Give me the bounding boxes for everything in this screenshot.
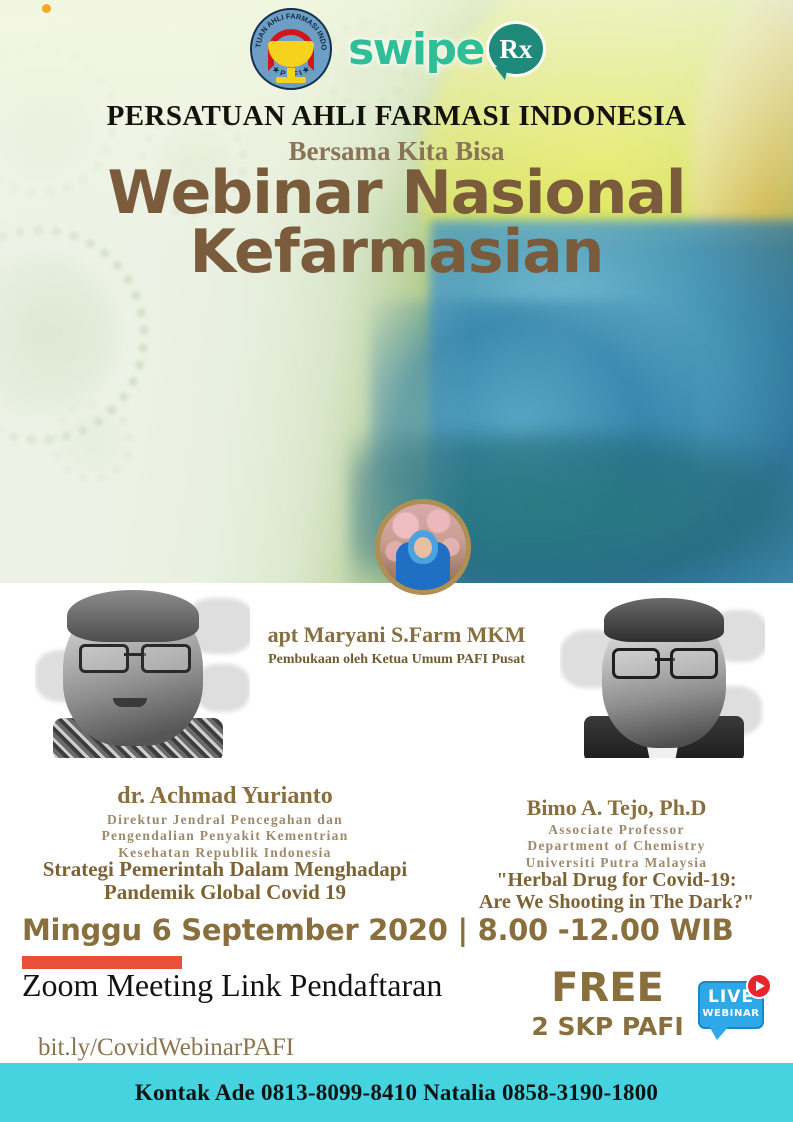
affiliation-line: Associate Professor xyxy=(440,822,793,838)
event-datetime: Minggu 6 September 2020 | 8.00 -12.00 WI… xyxy=(22,913,733,947)
right-speaker-name: Bimo A. Tejo, Ph.D xyxy=(440,795,793,821)
main-title-line2: Kefarmasian xyxy=(0,223,793,282)
webinar-label: WEBINAR xyxy=(698,1008,764,1019)
topic-line: Pandemik Global Covid 19 xyxy=(0,881,450,904)
topic-line: Strategi Pemerintah Dalam Menghadapi xyxy=(0,858,450,881)
right-speaker-affiliation: Associate Professor Department of Chemis… xyxy=(440,822,793,871)
left-speaker-affiliation: Direktur Jendral Pencegahan dan Pengenda… xyxy=(0,812,450,861)
registration-label: Zoom Meeting Link Pendaftaran xyxy=(22,967,442,1004)
affiliation-line: Pengendalian Penyakit Kementrian xyxy=(0,828,450,844)
left-speaker-name: dr. Achmad Yurianto xyxy=(0,783,450,810)
rx-label: Rx xyxy=(499,36,532,63)
page-title: Webinar Nasional Kefarmasian xyxy=(0,164,793,283)
left-speaker-hair xyxy=(67,590,199,642)
left-speaker-topic: Strategi Pemerintah Dalam Menghadapi Pan… xyxy=(0,858,450,904)
eyeglasses-icon xyxy=(612,648,718,674)
eyeglasses-icon xyxy=(79,644,191,668)
webinar-poster: PERSATUAN AHLI FARMASI INDONESIA ★ P A F… xyxy=(0,0,793,1122)
pafi-logo-icon: PERSATUAN AHLI FARMASI INDONESIA ★ P A F… xyxy=(250,8,332,90)
swipe-wordmark: swipe xyxy=(348,24,484,75)
affiliation-line: Department of Chemistry xyxy=(440,838,793,854)
play-button-icon xyxy=(746,973,772,999)
right-speaker-hair xyxy=(604,598,724,642)
organization-name: PERSATUAN AHLI FARMASI INDONESIA xyxy=(0,100,793,133)
contact-bar: Kontak Ade 0813-8099-8410 Natalia 0858-3… xyxy=(0,1063,793,1122)
avatar-right-speaker xyxy=(560,590,765,758)
right-speaker-topic: "Herbal Drug for Covid-19: Are We Shooti… xyxy=(440,869,793,913)
price-block: FREE 2 SKP PAFI xyxy=(520,968,695,1041)
swipe-dot-icon xyxy=(42,4,51,13)
rx-speech-bubble-icon: Rx xyxy=(489,24,543,74)
logo-row: PERSATUAN AHLI FARMASI INDONESIA ★ P A F… xyxy=(0,6,793,92)
topic-line: "Herbal Drug for Covid-19: xyxy=(440,869,793,891)
left-speaker-mouth xyxy=(113,698,147,707)
avatar-center-speaker xyxy=(375,499,471,595)
topic-line: Are We Shooting in The Dark?" xyxy=(440,891,793,913)
registration-link[interactable]: bit.ly/CovidWebinarPAFI xyxy=(38,1034,294,1062)
credits-label: 2 SKP PAFI xyxy=(520,1012,695,1041)
live-webinar-badge: LIVE WEBINAR xyxy=(698,975,770,1041)
swiperx-logo-icon: swipe Rx xyxy=(348,24,543,75)
speaker-face xyxy=(414,537,432,558)
avatar-left-speaker xyxy=(35,590,250,758)
bowl-base xyxy=(276,77,306,83)
contact-text: Kontak Ade 0813-8099-8410 Natalia 0858-3… xyxy=(135,1080,658,1106)
affiliation-line: Direktur Jendral Pencegahan dan xyxy=(0,812,450,828)
price-label: FREE xyxy=(520,968,695,1008)
